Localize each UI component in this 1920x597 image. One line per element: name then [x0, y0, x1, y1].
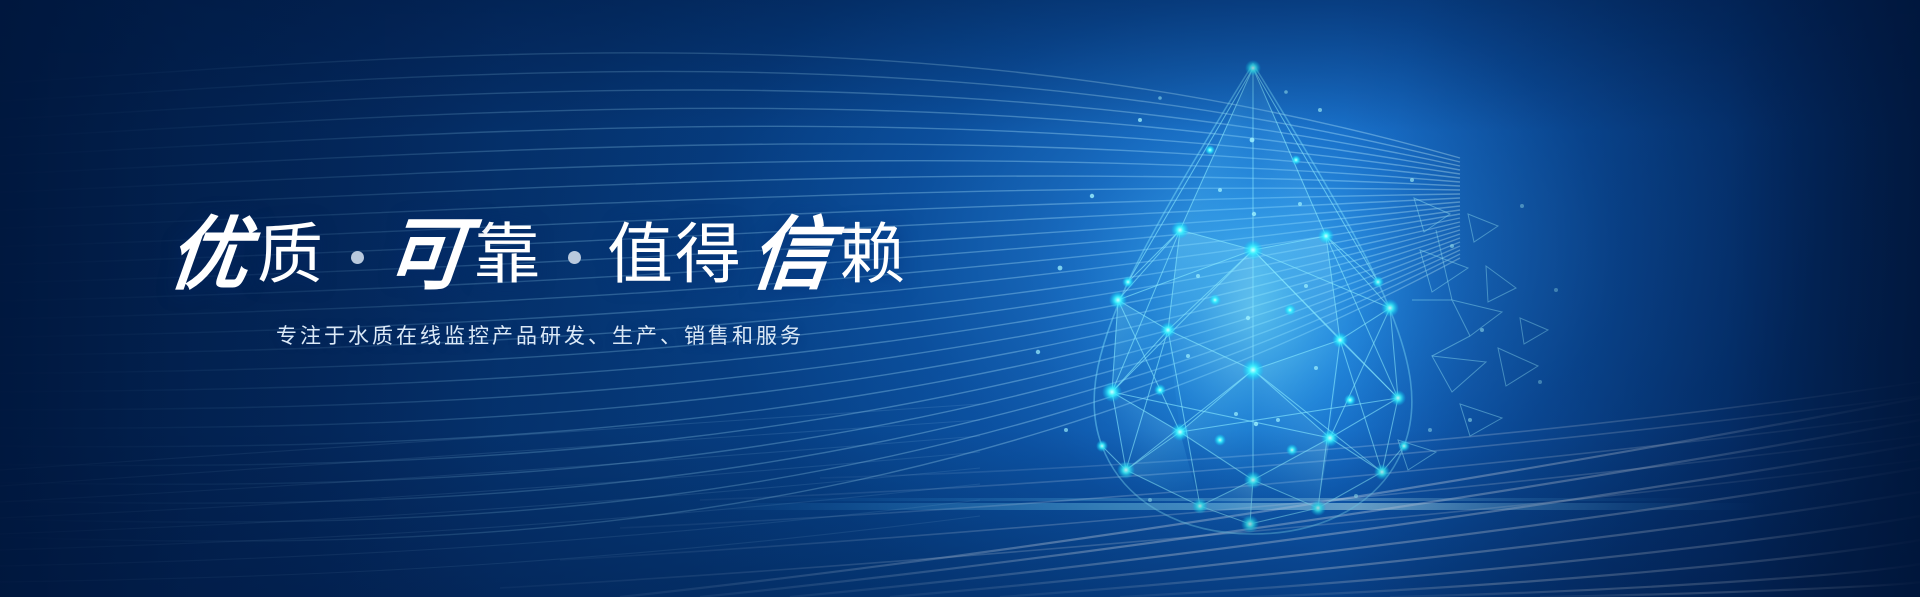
headline-char-xinlai-1: 信	[745, 214, 837, 294]
headline-char-xinlai-2: 赖	[833, 221, 913, 287]
hero-headline: 优 质 可 靠 值得 信 赖	[0, 214, 1080, 294]
hero-text-block: 优 质 可 靠 值得 信 赖 专注于水质在线监控产品研发、生产、销售和服务	[0, 214, 1080, 350]
headline-word-zhide: 值得	[601, 221, 749, 287]
hero-subtitle: 专注于水质在线监控产品研发、生产、销售和服务	[0, 320, 1080, 350]
headline-char-kekao-2: 靠	[468, 221, 548, 287]
headline-separator-dot-1	[351, 251, 364, 264]
headline-char-youzhi-1: 优	[163, 214, 255, 294]
headline-separator-dot-2	[568, 251, 581, 264]
headline-char-kekao-1: 可	[380, 214, 472, 294]
headline-char-youzhi-2: 质	[251, 221, 331, 287]
hero-banner: 优 质 可 靠 值得 信 赖 专注于水质在线监控产品研发、生产、销售和服务	[0, 0, 1920, 597]
